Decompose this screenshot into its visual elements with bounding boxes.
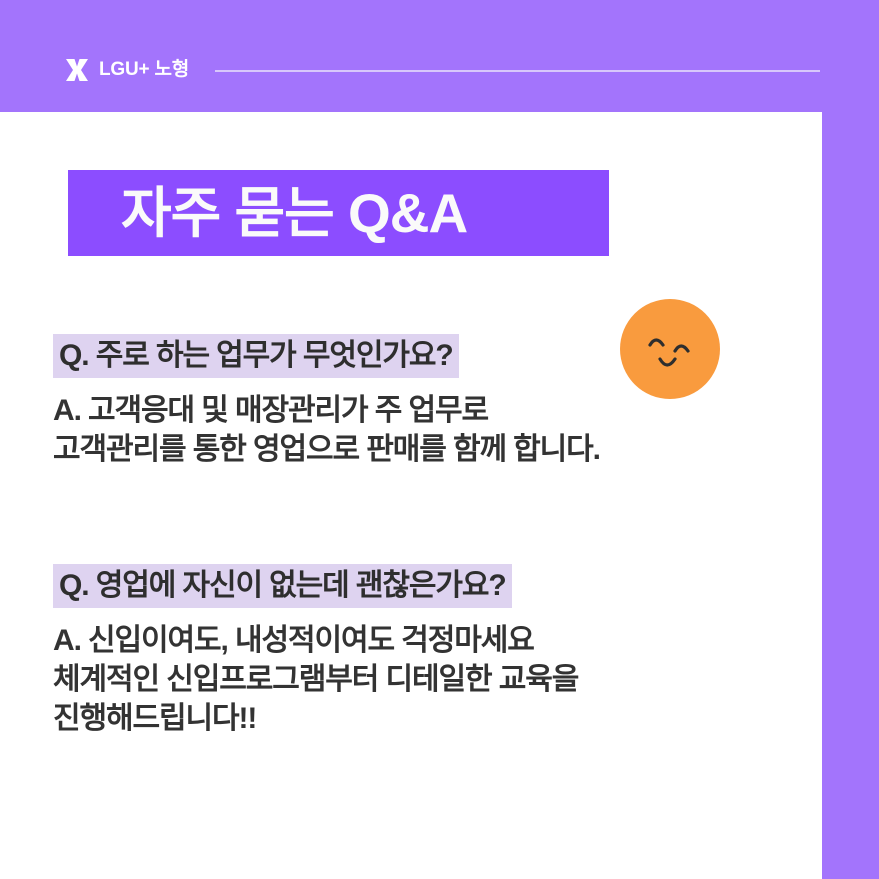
- answer-line: 체계적인 신입프로그램부터 디테일한 교육을: [53, 660, 813, 699]
- answer-line: A. 신입이여도, 내성적이여도 걱정마세요: [53, 621, 813, 660]
- brand-name: LGU+ 노형: [99, 57, 189, 83]
- qa-item-1: Q. 주로 하는 업무가 무엇인가요? A. 고객응대 및 매장관리가 주 업무…: [53, 334, 813, 469]
- right-purple-band: [822, 0, 879, 879]
- faq-poster: LGU+ 노형 자주 묻는 Q&A Q. 주로 하는 업무가 무엇인가요? A.…: [0, 0, 879, 879]
- qa-item-2: Q. 영업에 자신이 없는데 괜찮은가요? A. 신입이여도, 내성적이여도 걱…: [53, 564, 813, 738]
- answer-text: A. 고객응대 및 매장관리가 주 업무로 고객관리를 통한 영업으로 판매를 …: [53, 391, 813, 469]
- title-banner: 자주 묻는 Q&A: [68, 170, 609, 256]
- answer-line: A. 고객응대 및 매장관리가 주 업무로: [53, 391, 813, 430]
- question-text: Q. 주로 하는 업무가 무엇인가요?: [53, 334, 459, 378]
- page-header: LGU+ 노형: [0, 0, 879, 112]
- lgu-x-logo-icon: [64, 57, 90, 83]
- header-divider: [215, 70, 820, 72]
- page-title: 자주 묻는 Q&A: [68, 170, 467, 256]
- brand-logo: LGU+ 노형: [64, 55, 189, 85]
- answer-line: 진행해드립니다!!: [53, 699, 813, 738]
- content-card: 자주 묻는 Q&A Q. 주로 하는 업무가 무엇인가요? A. 고객응대 및 …: [0, 112, 822, 879]
- answer-line: 고객관리를 통한 영업으로 판매를 함께 합니다.: [53, 430, 813, 469]
- answer-text: A. 신입이여도, 내성적이여도 걱정마세요 체계적인 신입프로그램부터 디테일…: [53, 621, 813, 738]
- question-text: Q. 영업에 자신이 없는데 괜찮은가요?: [53, 564, 512, 608]
